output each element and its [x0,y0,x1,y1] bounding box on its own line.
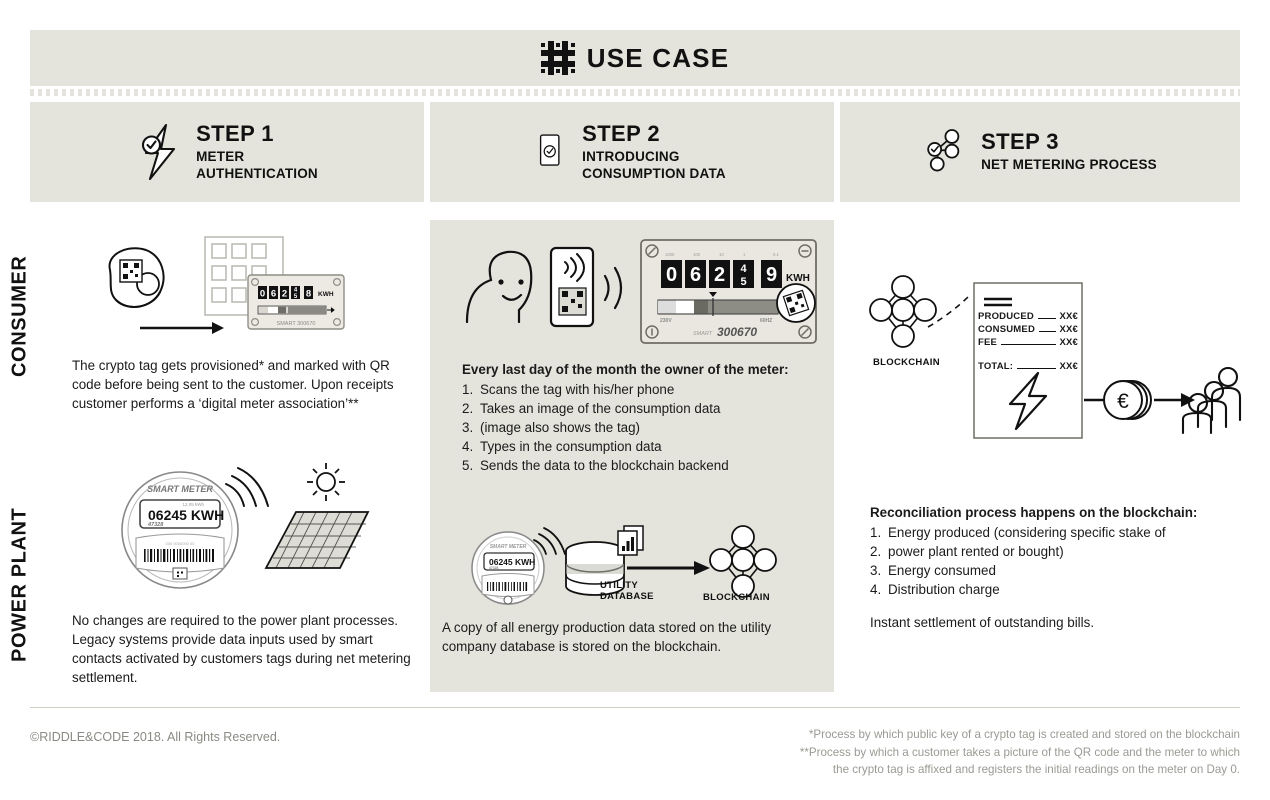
column3-heading: Reconciliation process happens on the bl… [870,503,1235,522]
row-label-power-plant: POWER PLANT [0,480,40,690]
invoice-row-label: PRODUCED [978,311,1034,322]
hash-grid-logo-icon [541,41,575,75]
crypto-tag-qr-icon [110,248,164,307]
invoice-row-value: XX€ [1059,337,1078,348]
svg-text:5: 5 [740,276,746,288]
meter-panel-large: 1000100 101 0.1 0 6 2 4 5 9 [641,240,816,343]
column2-heading: Every last day of the month the owner of… [462,360,822,379]
step-subtitle-line2: CONSUMPTION DATA [582,166,726,182]
list-item: Scans the tag with his/her phone [462,380,822,399]
list-item: Energy produced (considering specific st… [870,523,1235,542]
column3-reconciliation: Reconciliation process happens on the bl… [870,503,1235,632]
smart-meter-icon: SMART METER 06245 KWH 47328 [472,532,544,604]
footnote-1: *Process by which public key of a crypto… [540,726,1240,744]
svg-text:2: 2 [714,264,725,286]
sun-icon [307,463,345,501]
column3-list: Energy produced (considering specific st… [870,523,1235,599]
blockchain-label-col3: BLOCKCHAIN [873,357,940,368]
leader-line [1038,318,1056,319]
list-item: Takes an image of the consumption data [462,399,822,418]
svg-text:60HZ: 60HZ [760,318,772,324]
footnote-3: the crypto tag is affixed and registers … [540,761,1240,779]
phone-nfc-scan-icon [551,248,593,326]
list-item-sub: power plant rented or bought) [870,542,1235,561]
arrow-right-icon [627,561,710,575]
lightning-bolt-icon [998,370,1058,432]
infographic-page: USE CASE STEP 1 METER AUTHENTICATION [0,0,1270,800]
list-item-sub: (image also shows the tag) [462,418,822,437]
svg-text:6: 6 [690,264,701,286]
svg-text:KWH: KWH [786,273,810,284]
step-subtitle-line1: INTRODUCING [582,149,726,165]
page-title: USE CASE [587,43,730,74]
svg-text:0.1: 0.1 [773,252,779,257]
wireless-signal-icon [226,468,268,506]
step-subtitle-line1: METER [196,149,318,165]
footnote-2: **Process by which a customer takes a pi… [540,744,1240,762]
svg-text:100: 100 [693,252,701,257]
step-card-3: STEP 3 NET METERING PROCESS [840,102,1240,202]
svg-text:8: 8 [306,289,311,300]
svg-text:2: 2 [282,289,287,300]
header-bar: USE CASE [30,30,1240,86]
leader-line [1039,331,1056,332]
invoice-row-label: CONSUMED [978,324,1035,335]
lightning-bolt-check-icon [136,123,182,181]
svg-text:SMART METER: SMART METER [147,484,213,494]
svg-text:9: 9 [766,264,777,286]
column2-instructions: Every last day of the month the owner of… [462,360,822,475]
node-network-icon [710,526,776,597]
svg-text:0: 0 [666,264,677,286]
copyright-text: ©RIDDLE&CODE 2018. All Rights Reserved. [30,730,280,744]
invoice-rows: PRODUCED XX€ CONSUMED XX€ FEE XX€ TOTAL:… [978,311,1078,372]
step-card-1: STEP 1 METER AUTHENTICATION [30,102,424,202]
svg-text:0: 0 [260,289,265,300]
svg-text:4: 4 [740,263,747,275]
svg-text:230V: 230V [660,318,672,324]
column1-consumer-text: The crypto tag gets provisioned* and mar… [72,356,422,413]
leader-line [1017,368,1056,369]
svg-text:1000: 1000 [665,252,675,257]
svg-text:000 0000000 00: 000 0000000 00 [166,541,196,546]
arrow-right-icon [140,322,224,334]
svg-text:€: € [1117,390,1129,413]
footnotes: *Process by which public key of a crypto… [540,726,1240,779]
signal-waves-icon [605,268,621,308]
list-item: Energy consumed [870,561,1235,580]
svg-text:SMART 300670: SMART 300670 [277,321,316,327]
step-subtitle-line1: NET METERING PROCESS [981,157,1157,173]
phone-check-icon [538,129,568,175]
svg-text:47328: 47328 [489,566,499,570]
step-subtitle-line2: AUTHENTICATION [196,166,318,182]
svg-text:SMART: SMART [693,331,713,337]
invoice-row-value: XX€ [1059,311,1078,322]
svg-text:KWH: KWH [318,291,334,298]
dotted-divider [30,89,1240,96]
node-network-icon [870,276,936,347]
header-inner: USE CASE [541,41,730,75]
invoice-bolt [998,370,1058,432]
invoice-row-label: FEE [978,337,997,348]
solar-panel-icon [266,512,368,568]
meter-box-small: 0 6 2 4 5 8 KWH SMART 300670 [248,275,344,329]
row-label-consumer: CONSUMER [0,236,40,396]
step-number: STEP 3 [981,130,1157,153]
column2-bottom-text: A copy of all energy production data sto… [442,618,824,656]
column1-consumer-art: 0 6 2 4 5 8 KWH SMART 300670 [100,232,360,347]
footer-divider [30,707,1240,708]
column1-powerplant-art: SMART METER 12.05 kWh 06245 KWH 47328 00… [118,450,378,600]
column3-closing-text: Instant settlement of outstanding bills. [870,613,1235,632]
bar-chart-document-icon [618,526,643,555]
person-face-icon [467,252,531,322]
list-item: Sends the data to the blockchain backend [462,456,822,475]
svg-text:06245 KWH: 06245 KWH [148,507,224,523]
euro-coin-stack-icon: € [1104,381,1151,419]
node-network-check-icon [923,127,967,177]
svg-text:47328: 47328 [147,522,164,528]
blockchain-label-col2: BLOCKCHAIN [703,592,770,603]
step-number: STEP 1 [196,122,318,145]
leader-line [1001,344,1056,345]
invoice-total-value: XX€ [1059,361,1078,372]
utility-database-label: UTILITY DATABASE [600,580,654,602]
svg-text:10: 10 [719,252,724,257]
column2-list: Scans the tag with his/her phone Takes a… [462,380,822,475]
column2-scan-art: 1000100 101 0.1 0 6 2 4 5 9 [455,238,820,346]
list-item: Types in the consumption data [462,437,822,456]
invoice-row-value: XX€ [1059,324,1078,335]
smart-meter-icon: SMART METER 12.05 kWh 06245 KWH 47328 00… [122,472,238,588]
svg-text:6: 6 [271,289,276,300]
svg-text:SMART METER: SMART METER [490,544,527,550]
list-item: Distribution charge [870,580,1235,599]
column1-powerplant-text: No changes are required to the power pla… [72,611,422,687]
svg-text:300670: 300670 [717,325,757,339]
step-number: STEP 2 [582,122,726,145]
step-card-2: STEP 2 INTRODUCING CONSUMPTION DATA [430,102,834,202]
